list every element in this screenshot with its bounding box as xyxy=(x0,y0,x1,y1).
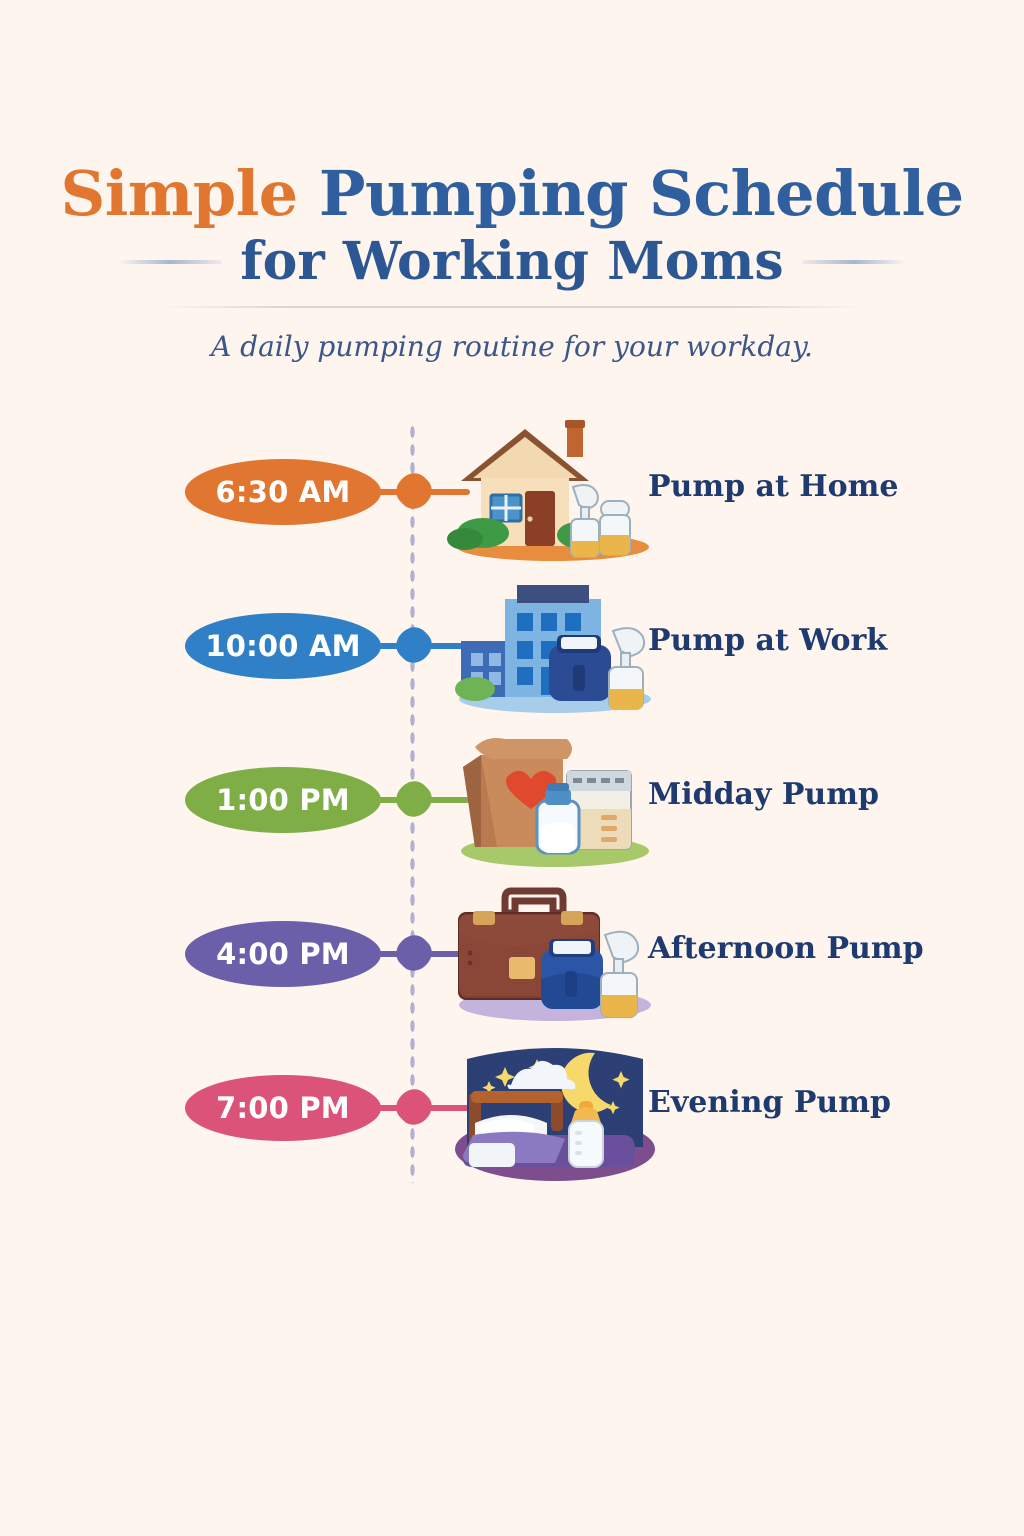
house-with-breast-pump-icon xyxy=(445,415,667,569)
row-label: Midday Pump xyxy=(648,777,879,812)
page-description: A daily pumping routine for your workday… xyxy=(0,330,1024,363)
lunch-bag-with-milk-storage-icon xyxy=(445,723,667,877)
office-building-with-pump-bag-icon xyxy=(445,569,667,723)
row-timeline-node xyxy=(390,775,438,823)
row-label: Pump at Work xyxy=(648,623,887,658)
header-divider xyxy=(162,306,862,308)
row-timeline-node xyxy=(390,467,438,515)
row-timeline-node xyxy=(390,929,438,977)
time-text: 6:30 AM xyxy=(216,475,351,509)
time-pill[interactable]: 6:30 AM xyxy=(185,459,381,525)
title-accent-word: Simple xyxy=(60,157,297,230)
divider-rule-left xyxy=(118,260,222,264)
time-text: 10:00 AM xyxy=(205,629,360,663)
timeline-row[interactable]: 1:00 PM xyxy=(0,723,1024,877)
bedroom-night-with-baby-bottle-icon xyxy=(445,1031,667,1185)
time-text: 7:00 PM xyxy=(216,1091,350,1125)
title-rest: Pumping Schedule xyxy=(319,157,964,230)
briefcase-with-pump-bag-icon xyxy=(445,877,667,1031)
row-label: Pump at Home xyxy=(648,469,898,504)
page-title: Simple Pumping Schedule xyxy=(0,162,1024,225)
row-timeline-node xyxy=(390,621,438,669)
timeline-row[interactable]: 6:30 AM xyxy=(0,415,1024,569)
time-pill[interactable]: 10:00 AM xyxy=(185,613,381,679)
timeline-row[interactable]: 4:00 PM xyxy=(0,877,1024,1031)
timeline-row[interactable]: 10:00 AM xyxy=(0,569,1024,723)
time-pill[interactable]: 7:00 PM xyxy=(185,1075,381,1141)
time-text: 1:00 PM xyxy=(216,783,350,817)
subtitle-line-group: for Working Moms xyxy=(0,231,1024,292)
time-text: 4:00 PM xyxy=(216,937,350,971)
divider-rule-right xyxy=(802,260,906,264)
timeline-row[interactable]: 7:00 PM xyxy=(0,1031,1024,1185)
page-subtitle-heading: for Working Moms xyxy=(240,231,783,292)
schedule-timeline: 6:30 AM xyxy=(0,415,1024,1185)
row-label: Evening Pump xyxy=(648,1085,891,1120)
row-timeline-node xyxy=(390,1083,438,1131)
time-pill[interactable]: 1:00 PM xyxy=(185,767,381,833)
row-label: Afternoon Pump xyxy=(648,931,924,966)
time-pill[interactable]: 4:00 PM xyxy=(185,921,381,987)
infographic-header: Simple Pumping Schedule for Working Moms… xyxy=(0,0,1024,363)
